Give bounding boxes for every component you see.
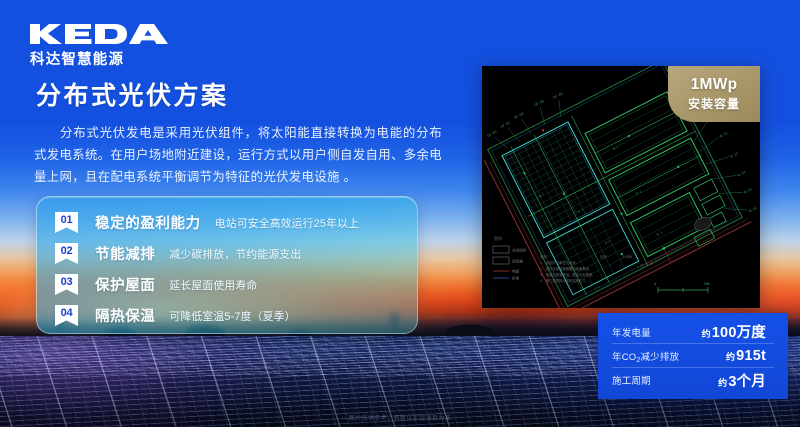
svg-text:3. 电缆沿桥架敷设，具体见系统图。: 3. 电缆沿桥架敷设，具体见系统图。 bbox=[540, 272, 595, 277]
feature-title: 隔热保温 bbox=[95, 305, 155, 326]
feature-desc: 延长屋面使用寿命 bbox=[169, 277, 257, 293]
stat-row-construction-period: 施工周期 约3个月 bbox=[612, 368, 774, 392]
svg-text:图例: 图例 bbox=[494, 235, 502, 241]
feature-title: 稳定的盈利能力 bbox=[95, 212, 201, 233]
feature-desc: 减少碳排放，节约能源支出 bbox=[169, 246, 301, 262]
svg-text:50m: 50m bbox=[704, 282, 710, 286]
feature-title: 节能减排 bbox=[95, 243, 155, 264]
brand-name-cn: 科达智慧能源 bbox=[30, 48, 178, 69]
svg-text:4. 施工前须核对现场实际尺寸。: 4. 施工前须核对现场实际尺寸。 bbox=[540, 278, 589, 283]
svg-text:电缆: 电缆 bbox=[512, 269, 520, 274]
feature-item-04[interactable]: 04 隔热保温 可降低室温5-7度（夏季） bbox=[37, 300, 417, 331]
stat-value: 约3个月 bbox=[718, 370, 766, 391]
svg-text:0: 0 bbox=[654, 282, 656, 286]
stat-value: 约100万度 bbox=[702, 321, 766, 342]
feature-number-badge: 01 bbox=[55, 212, 78, 233]
feature-title: 保护屋面 bbox=[95, 274, 155, 295]
feature-item-03[interactable]: 03 保护屋面 延长屋面使用寿命 bbox=[37, 269, 417, 300]
svg-text:说明：: 说明： bbox=[540, 254, 550, 259]
svg-text:1:500: 1:500 bbox=[622, 255, 632, 259]
feature-item-02[interactable]: 02 节能减排 减少碳排放，节约能源支出 bbox=[37, 238, 417, 269]
brand-logo: 科达智慧能源 bbox=[28, 22, 178, 69]
stat-label: 年CO2减少排放 bbox=[612, 349, 679, 363]
feature-item-01[interactable]: 01 稳定的盈利能力 电站可安全高效运行25年以上 bbox=[37, 207, 417, 238]
feature-desc: 可降低室温5-7度（夏季） bbox=[169, 308, 295, 324]
feature-list-card: 01 稳定的盈利能力 电站可安全高效运行25年以上 02 节能减排 减少碳排放，… bbox=[36, 196, 418, 334]
svg-text:1. 本图尺寸单位为毫米。: 1. 本图尺寸单位为毫米。 bbox=[540, 260, 579, 265]
intro-paragraph: 分布式光伏发电是采用光伏组件，将太阳能直接转换为电能的分布式发电系统。在用户场地… bbox=[34, 122, 442, 188]
stat-row-annual-generation: 年发电量 约100万度 bbox=[612, 320, 774, 344]
keda-wordmark-icon bbox=[28, 22, 178, 46]
page-title: 分布式光伏方案 bbox=[36, 76, 229, 112]
svg-text:2. 组件安装倾角按屋面坡度敷设。: 2. 组件安装倾角按屋面坡度敷设。 bbox=[540, 266, 592, 271]
feature-number-badge: 04 bbox=[55, 305, 78, 326]
stats-panel: 年发电量 约100万度 年CO2减少排放 约915t 施工周期 约3个月 bbox=[598, 313, 788, 399]
feature-number-badge: 02 bbox=[55, 243, 78, 264]
slide-canvas: 科达智慧能源 分布式光伏方案 分布式光伏发电是采用光伏组件，将太阳能直接转换为电… bbox=[0, 0, 800, 427]
stat-value: 约915t bbox=[726, 348, 766, 364]
cad-site-plan-image[interactable]: GF-01GF-02 GF-03GF-04 GF-05 N-11N-12 N-1… bbox=[482, 66, 760, 308]
stat-label: 年发电量 bbox=[612, 325, 651, 339]
capacity-value: 1MWp bbox=[691, 76, 738, 94]
stat-label: 施工周期 bbox=[612, 373, 651, 387]
capacity-label: 安装容量 bbox=[688, 95, 740, 112]
svg-text:逆变器: 逆变器 bbox=[512, 259, 523, 264]
svg-text:桥架: 桥架 bbox=[512, 276, 520, 281]
stat-row-co2-reduction: 年CO2减少排放 约915t bbox=[612, 344, 774, 368]
feature-number-badge: 03 bbox=[55, 274, 78, 295]
footer-disclaimer: 图片仅供参考，具体以实际项目为准 bbox=[0, 413, 800, 422]
svg-text:光伏组件: 光伏组件 bbox=[512, 248, 527, 253]
svg-text:比例: 比例 bbox=[600, 254, 607, 259]
capacity-badge: 1MWp 安装容量 bbox=[668, 66, 760, 122]
feature-desc: 电站可安全高效运行25年以上 bbox=[215, 215, 359, 231]
